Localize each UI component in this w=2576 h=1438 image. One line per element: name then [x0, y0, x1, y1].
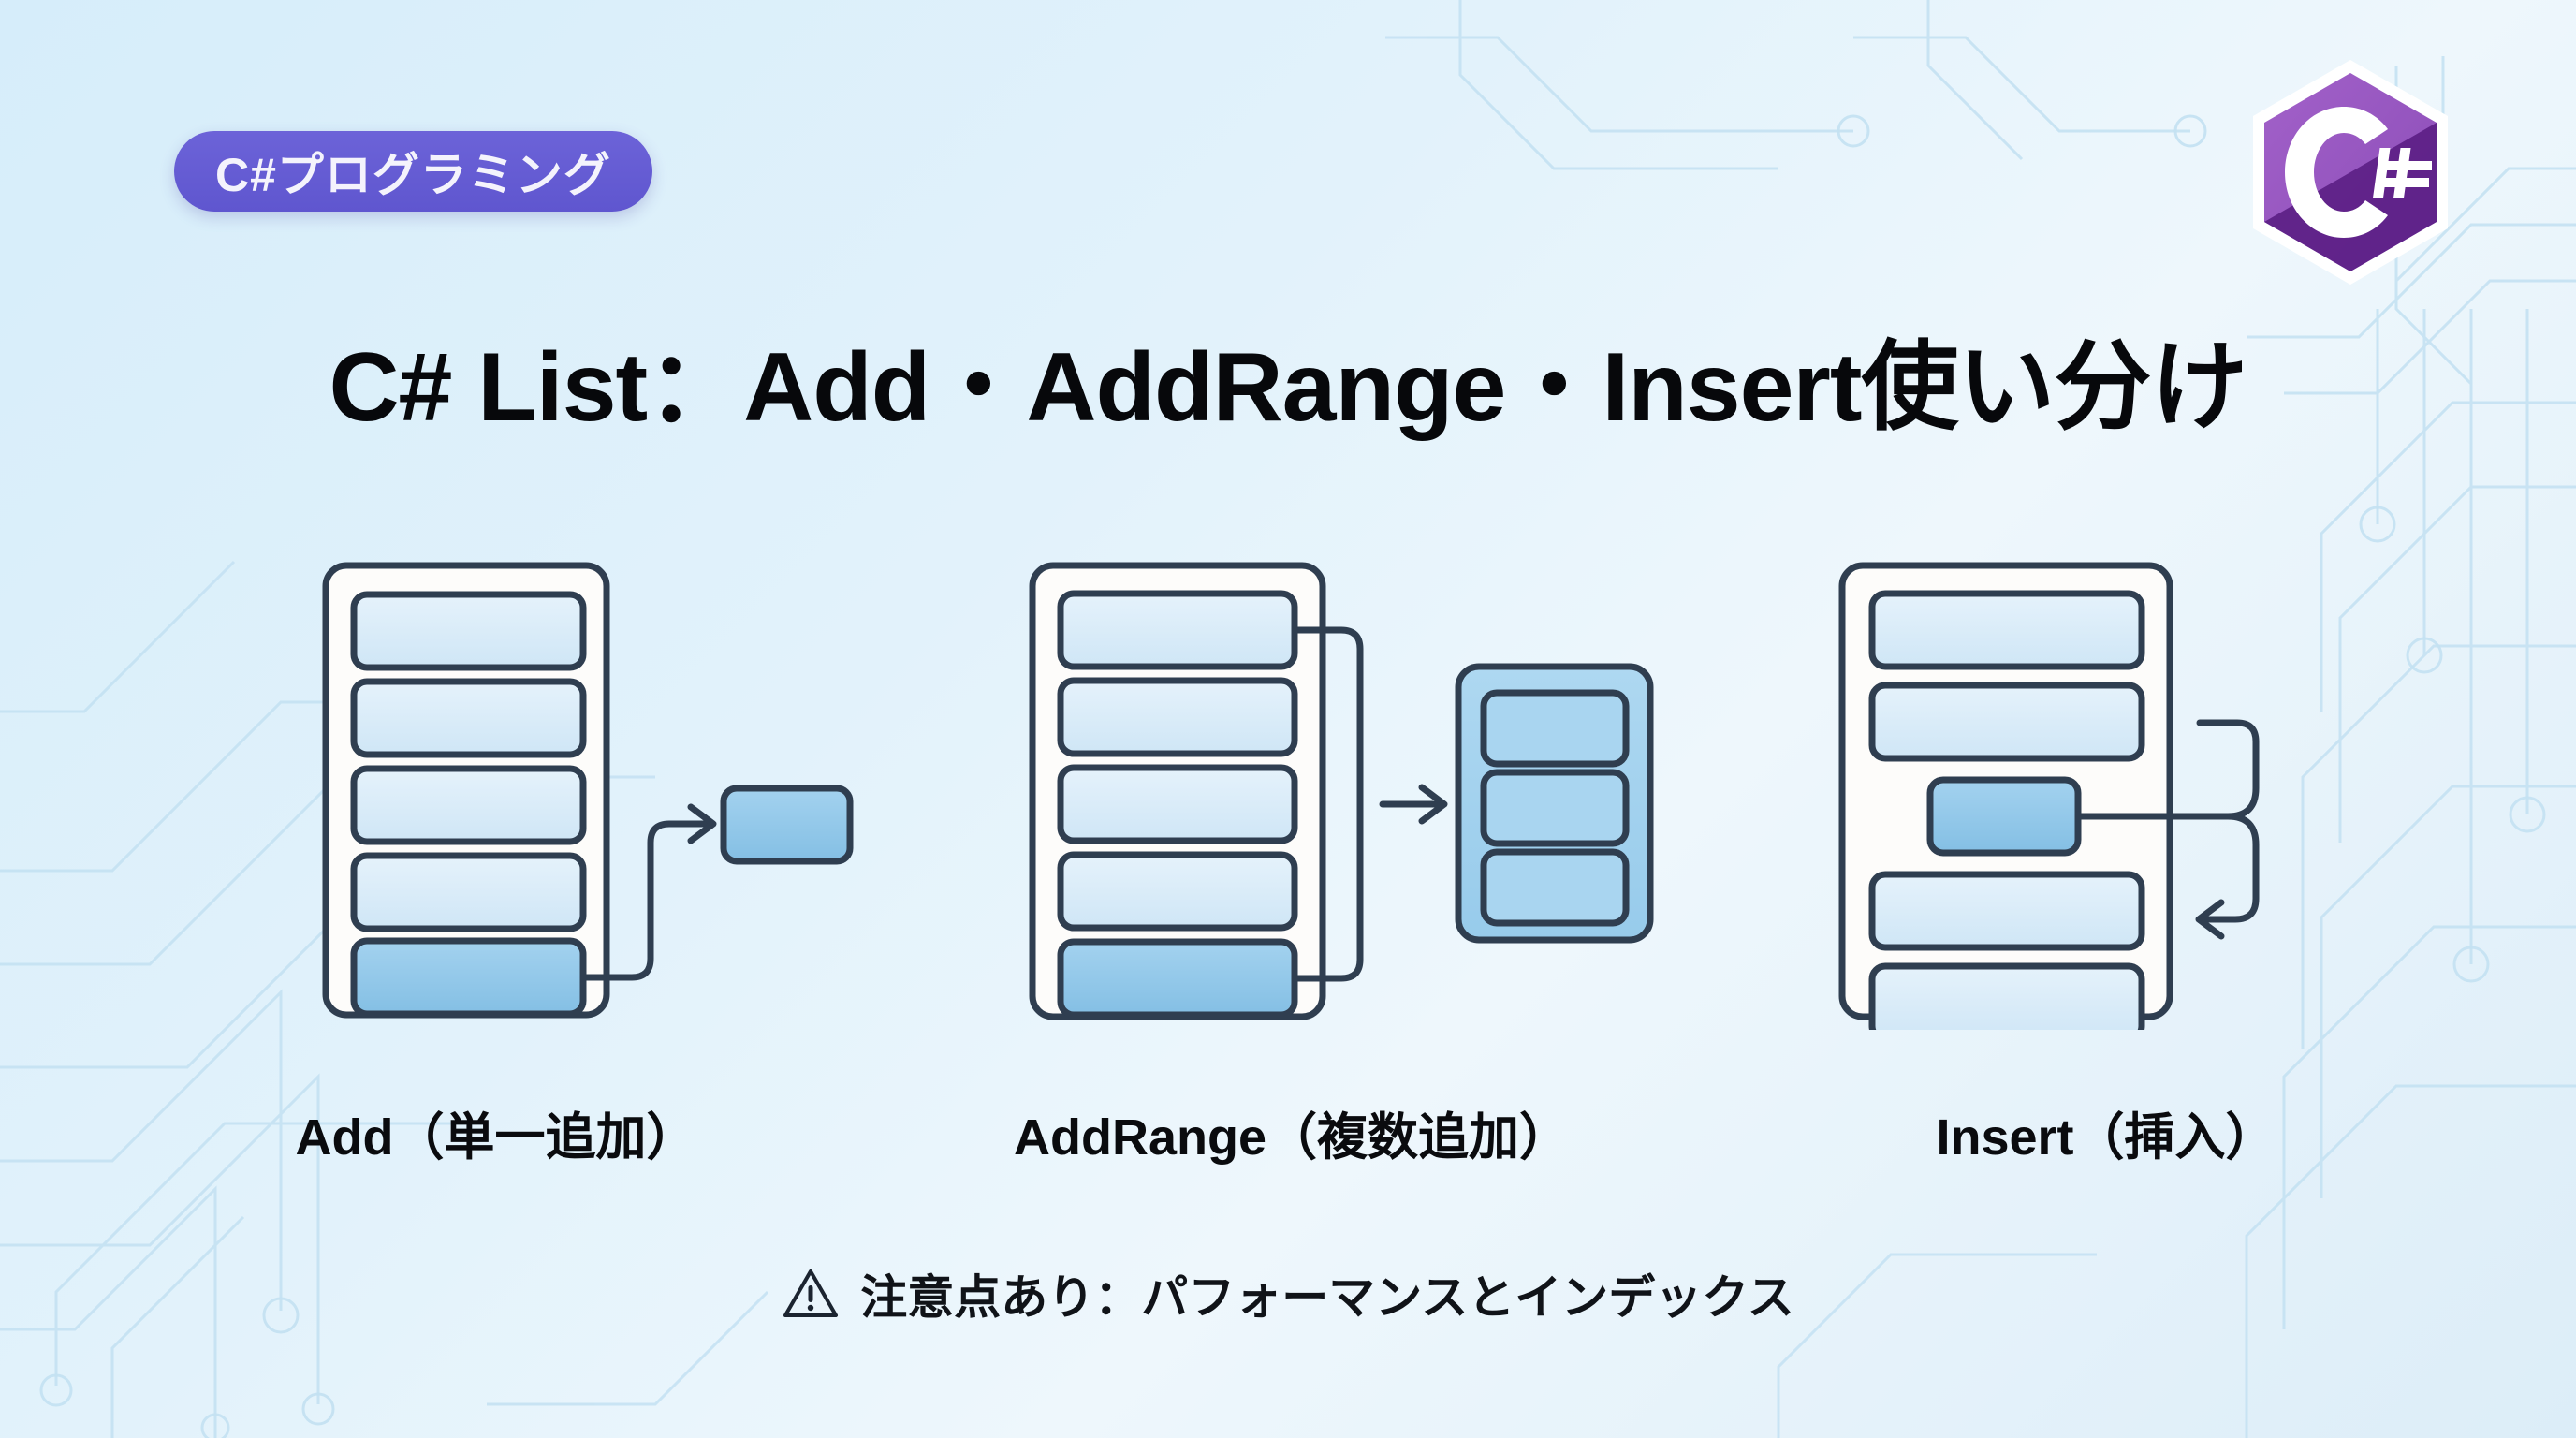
list-row: [1061, 594, 1295, 667]
insert-arrow-lower: [2204, 816, 2256, 919]
group-item: [1484, 852, 1626, 923]
list-row: [1061, 768, 1295, 841]
footer-note-text: 注意点あり：パフォーマンスとインデックス: [860, 1260, 1794, 1328]
list-row-highlighted: [1061, 942, 1295, 1015]
caption-addrange: AddRange（複数追加）: [871, 1095, 1713, 1169]
category-badge[interactable]: C#プログラミング: [174, 131, 652, 212]
diagram-add: [309, 552, 871, 1030]
new-item-box: [724, 788, 850, 861]
list-row: [1872, 594, 2142, 667]
group-item: [1484, 772, 1626, 844]
list-row: [354, 682, 583, 755]
inserted-row: [1930, 780, 2078, 853]
poster-canvas: C#プログラミング C# List：Add・AddRange・Insert使い分…: [0, 0, 2576, 1438]
list-row: [1061, 855, 1295, 928]
footer-note: 注意点あり：パフォーマンスとインデックス: [0, 1260, 2576, 1328]
warning-triangle-icon: [782, 1267, 840, 1321]
caption-add: Add（単一追加）: [168, 1095, 824, 1169]
list-row: [1872, 685, 2142, 758]
list-row: [1872, 874, 2142, 947]
category-badge-label: C#プログラミング: [215, 138, 611, 205]
caption-insert: Insert（挿入）: [1732, 1095, 2481, 1169]
list-row: [1061, 681, 1295, 754]
list-row-highlighted: [354, 941, 583, 1014]
diagram-insert: [1788, 552, 2312, 1030]
csharp-logo: [2247, 58, 2454, 286]
diagram-addrange: [1016, 552, 1671, 1030]
group-item: [1484, 693, 1626, 764]
page-title: C# List：Add・AddRange・Insert使い分け: [0, 330, 2576, 447]
list-row: [1872, 966, 2142, 1030]
list-row: [354, 594, 583, 668]
list-row: [354, 769, 583, 842]
list-row: [354, 856, 583, 929]
